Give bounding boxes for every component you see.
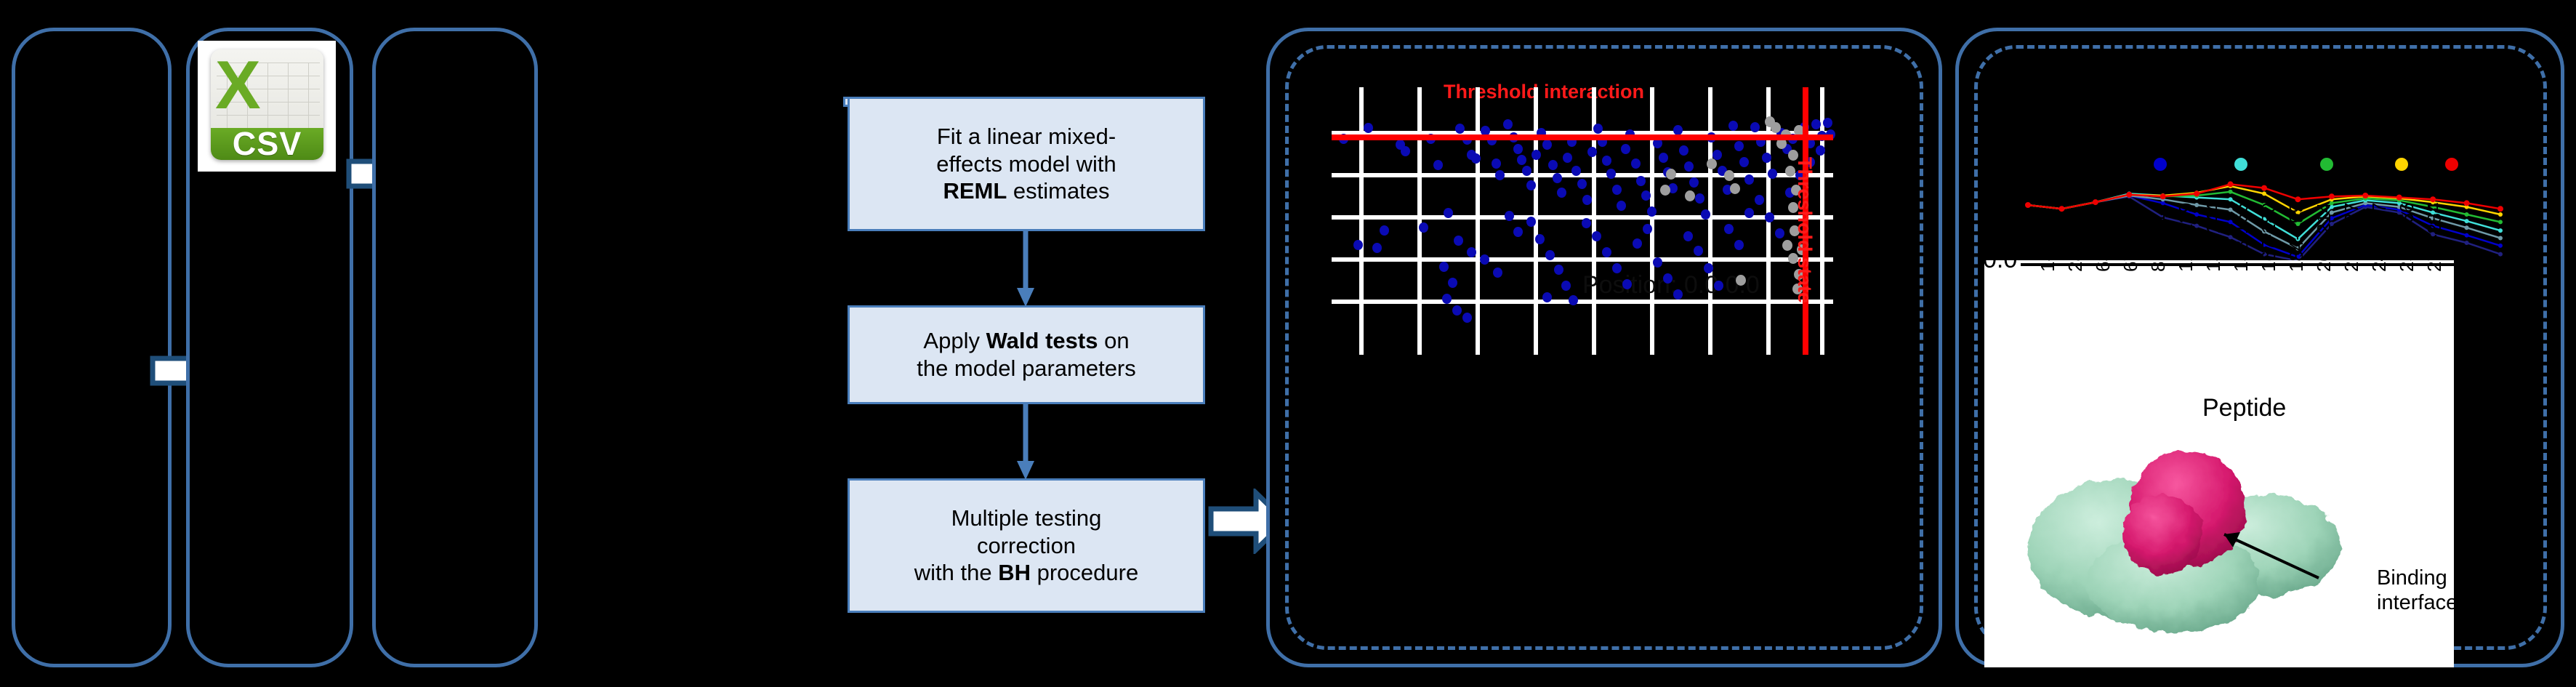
- binding-interface-label: Binding interface: [2377, 566, 2458, 615]
- peptide-tick-label: 218-237: [2340, 203, 2363, 272]
- peptide-series-marker: [2329, 193, 2335, 199]
- scatter-point: [1768, 169, 1777, 179]
- scatter-point: [1679, 145, 1689, 156]
- scatter-point: [1593, 124, 1603, 134]
- scatter-point: [1454, 236, 1463, 246]
- binding-interface-line2: interface: [2377, 590, 2458, 615]
- peptide-series-marker: [2498, 228, 2503, 233]
- scatter-point: [1577, 179, 1587, 189]
- peptide-series-marker: [2465, 241, 2469, 245]
- scatter-point: [1636, 176, 1646, 186]
- scatter-point: [1542, 140, 1552, 150]
- scatter-point: [1647, 206, 1657, 217]
- volcano-plot-area: Position: 0.0 0.0: [1332, 115, 1833, 326]
- scatter-point: [1823, 118, 1832, 128]
- wald-box-line2: the model parameters: [917, 355, 1136, 382]
- scatter-point-grey: [1685, 190, 1695, 201]
- scatter-point: [1653, 257, 1662, 268]
- peptide-tick-label: 158-166: [2230, 203, 2253, 272]
- bh-box-line3: with the BH procedure: [914, 559, 1138, 587]
- scatter-point: [1582, 218, 1591, 228]
- scatter-point: [1505, 211, 1514, 221]
- scatter-point: [1442, 294, 1452, 304]
- gridline-h: [1332, 173, 1833, 177]
- peptide-series-marker: [2126, 192, 2132, 198]
- peptide-series-marker: [2396, 195, 2402, 201]
- scatter-point: [1734, 141, 1744, 151]
- reml-box-line1: Fit a linear mixed-: [936, 123, 1116, 150]
- peptide-series-marker: [2229, 197, 2233, 201]
- scatter-point-grey: [1736, 275, 1746, 286]
- scatter-point: [1548, 160, 1558, 170]
- connector-wald-to-bh: [1015, 404, 1037, 486]
- peptide-series-marker: [2161, 201, 2165, 205]
- peptide-tick-label: 122-129: [2175, 203, 2197, 272]
- scatter-point: [1643, 224, 1652, 234]
- scatter-point: [1659, 153, 1668, 163]
- scatter-point: [1513, 144, 1523, 154]
- bh-box[interactable]: Multiple testing correction with the BH …: [848, 478, 1205, 613]
- scatter-point: [1734, 240, 1744, 250]
- peptide-series-marker: [2498, 252, 2503, 257]
- scatter-point: [1526, 180, 1536, 190]
- scatter-point: [1452, 305, 1462, 316]
- peptide-tick-label: 63-73: [2092, 224, 2114, 273]
- peptide-series-marker: [2464, 200, 2470, 206]
- wald-keyword: Wald tests: [986, 328, 1098, 353]
- scatter-point: [1353, 240, 1363, 250]
- peptide-tick-label: 200-214: [2313, 203, 2335, 272]
- scatter-point: [1744, 208, 1754, 218]
- peptide-series-marker: [2262, 191, 2266, 196]
- bh-box-line2: correction: [914, 532, 1138, 560]
- scatter-point: [1704, 263, 1713, 273]
- peptide-series-marker: [2194, 190, 2199, 196]
- scatter-point: [1695, 193, 1704, 204]
- scatter-point: [1492, 158, 1501, 169]
- scatter-point: [1503, 119, 1513, 129]
- peptide-axis-title: Peptide: [2202, 394, 2286, 422]
- scatter-point: [1683, 231, 1693, 241]
- protein-structure-image: [2006, 429, 2399, 647]
- scatter-point: [1401, 146, 1410, 156]
- scatter-point: [1728, 121, 1738, 131]
- scatter-point-grey: [1660, 185, 1670, 196]
- scatter-point: [1448, 278, 1457, 288]
- scatter-point-grey: [1707, 158, 1717, 169]
- peptide-tick-label: 241-257: [2368, 203, 2391, 272]
- scatter-point: [1755, 195, 1764, 205]
- peptide-figure[interactable]: 0.0 1-15 28-44 63-73 67-75 81-101 122-12…: [1992, 95, 2544, 669]
- bh-box-line3-post: procedure: [1031, 560, 1138, 585]
- scatter-point: [1744, 174, 1754, 185]
- peptide-tick-label: 67-75: [2120, 224, 2142, 273]
- scatter-point: [1684, 161, 1694, 172]
- reml-box-line3: REML estimates: [936, 177, 1116, 205]
- scatter-point: [1606, 169, 1616, 179]
- gridline-v: [1476, 87, 1480, 355]
- scatter-point: [1739, 157, 1749, 167]
- scatter-point: [1816, 145, 1825, 156]
- peptide-tick-label: 184-199: [2285, 203, 2308, 272]
- scatter-point: [1462, 313, 1472, 323]
- scatter-point: [1553, 173, 1562, 183]
- gridline-v: [1820, 87, 1824, 355]
- scatter-point: [1467, 247, 1476, 257]
- peptide-series-marker: [2058, 206, 2064, 212]
- csv-file-icon[interactable]: X CSV: [198, 41, 336, 172]
- peptide-series-marker: [2465, 219, 2469, 223]
- scatter-point: [1480, 254, 1489, 265]
- threshold-interaction-label: Threshold interaction: [1444, 81, 1644, 103]
- scatter-point: [1542, 292, 1552, 302]
- scatter-point: [1587, 147, 1597, 157]
- bh-box-line1: Multiple testing: [914, 505, 1138, 532]
- peptide-series-marker: [2498, 236, 2503, 241]
- peptide-series-marker: [2093, 199, 2098, 205]
- gridline-v: [1708, 87, 1712, 355]
- scatter-point: [1633, 238, 1642, 249]
- scatter-point: [1444, 208, 1453, 218]
- scatter-point: [1364, 123, 1373, 133]
- scatter-point: [1673, 125, 1683, 135]
- scatter-point: [1557, 188, 1566, 198]
- scatter-point: [1569, 295, 1578, 305]
- binding-interface-line1: Binding: [2377, 566, 2458, 590]
- scatter-point: [1545, 250, 1555, 260]
- scatter-point: [1455, 124, 1465, 134]
- scatter-point: [1513, 227, 1523, 237]
- scatter-point-grey: [1730, 183, 1740, 194]
- peptide-series-marker: [2465, 212, 2469, 217]
- peptide-series-marker: [2025, 202, 2031, 208]
- scatter-point: [1517, 155, 1526, 165]
- scatter-point: [1471, 153, 1481, 164]
- scatter-point: [1433, 160, 1443, 170]
- peptide-series-marker: [2498, 244, 2503, 248]
- scatter-point: [1750, 122, 1760, 132]
- peptide-series-marker: [2160, 193, 2166, 199]
- reml-keyword: REML: [943, 178, 1007, 204]
- scatter-point: [1439, 262, 1449, 272]
- scatter-point: [1811, 119, 1821, 129]
- wald-box-line1-post: on: [1098, 328, 1129, 353]
- reml-box-line2: effects model with: [936, 150, 1116, 178]
- scatter-point: [1522, 166, 1531, 176]
- peptide-series-marker: [2465, 225, 2469, 230]
- scatter-point: [1582, 195, 1592, 205]
- peptide-y-tick-0: 0.0: [1983, 246, 2017, 274]
- peptide-series-marker: [2228, 181, 2234, 187]
- scatter-point: [1775, 228, 1784, 238]
- scatter-point: [1602, 156, 1611, 166]
- scatter-point: [1561, 281, 1571, 291]
- peptide-tick-label: 28-44: [2064, 224, 2087, 273]
- peptide-series-marker: [2497, 206, 2503, 212]
- scatter-point: [1535, 234, 1545, 244]
- scatter-point: [1621, 144, 1630, 154]
- scatter-point: [1617, 201, 1626, 211]
- csv-format-bar: CSV: [211, 128, 323, 160]
- scatter-point: [1765, 212, 1774, 222]
- scatter-point: [1714, 281, 1723, 291]
- connector-reml-to-wald: [1015, 231, 1037, 313]
- peptide-series-marker: [2465, 233, 2469, 238]
- bh-box-line3-pre: with the: [914, 560, 998, 585]
- scatter-point: [1602, 247, 1611, 257]
- scatter-point: [1372, 243, 1382, 253]
- peptide-series-marker: [2261, 185, 2267, 191]
- wald-box-line1: Apply Wald tests on: [917, 327, 1136, 355]
- scatter-point: [1495, 170, 1505, 180]
- scatter-point: [1724, 224, 1734, 234]
- gridline-v: [1417, 87, 1422, 355]
- wald-box[interactable]: Apply Wald tests on the model parameters: [848, 305, 1205, 404]
- reml-box[interactable]: Fit a linear mixed- effects model with R…: [848, 97, 1205, 231]
- scatter-point: [1592, 231, 1601, 241]
- peptide-tick-label: 277-284: [2423, 203, 2446, 272]
- scatter-point: [1612, 185, 1622, 195]
- scatter-point: [1554, 265, 1563, 275]
- scatter-point: [1612, 263, 1622, 273]
- scatter-point: [1526, 217, 1536, 227]
- scatter-point: [1663, 273, 1673, 284]
- scatter-point: [1673, 289, 1683, 300]
- scatter-point: [1531, 150, 1541, 160]
- scatter-point: [1689, 177, 1699, 188]
- scatter-point-grey: [1666, 169, 1676, 180]
- gridline-h: [1332, 257, 1833, 262]
- excel-x-letter: X: [215, 51, 261, 119]
- peptide-series-marker: [2362, 193, 2368, 198]
- scatter-point: [1563, 153, 1572, 163]
- peptide-series-marker: [2229, 190, 2233, 194]
- scatter-point: [1694, 246, 1703, 256]
- peptide-tick-label: 167-180: [2258, 203, 2280, 272]
- bh-keyword: BH: [998, 560, 1031, 585]
- scatter-point: [1419, 222, 1428, 233]
- wald-box-line1-pre: Apply: [923, 328, 986, 353]
- scatter-point: [1493, 268, 1502, 278]
- scatter-point: [1631, 158, 1641, 169]
- scatter-point-grey: [1724, 170, 1734, 181]
- peptide-series-marker: [2430, 196, 2436, 202]
- peptide-series-marker: [2295, 196, 2301, 202]
- gridline-v: [1650, 87, 1654, 355]
- scatter-point-grey: [1782, 240, 1792, 251]
- csv-format-label: CSV: [233, 125, 302, 160]
- peptide-tick-label: 135-144: [2202, 203, 2225, 272]
- scatter-point: [1641, 190, 1651, 201]
- model-stage-panel[interactable]: [372, 28, 538, 667]
- input-stage-panel[interactable]: [12, 28, 172, 667]
- peptide-series-marker: [2498, 212, 2503, 217]
- peptide-series-marker: [2498, 220, 2503, 224]
- gridline-h: [1332, 300, 1833, 304]
- peptide-tick-label: 258-266: [2396, 203, 2418, 272]
- scatter-point: [1701, 209, 1710, 220]
- scatter-point: [1762, 153, 1771, 163]
- scatter-point: [1571, 166, 1581, 176]
- volcano-plot[interactable]: Threshold interaction Position: 0.0 0.0: [1323, 87, 1904, 582]
- reml-box-line3-rest: estimates: [1007, 178, 1109, 204]
- peptide-tick-label: 81-101: [2147, 213, 2170, 272]
- scatter-point: [1622, 279, 1632, 289]
- scatter-point-grey: [1771, 122, 1781, 133]
- peptide-tick-label: 1-15: [2037, 234, 2059, 272]
- threshold-interaction-line: [1332, 134, 1833, 140]
- scatter-point: [1380, 225, 1389, 236]
- threshold-state-label: Threshold state: [1793, 157, 1816, 303]
